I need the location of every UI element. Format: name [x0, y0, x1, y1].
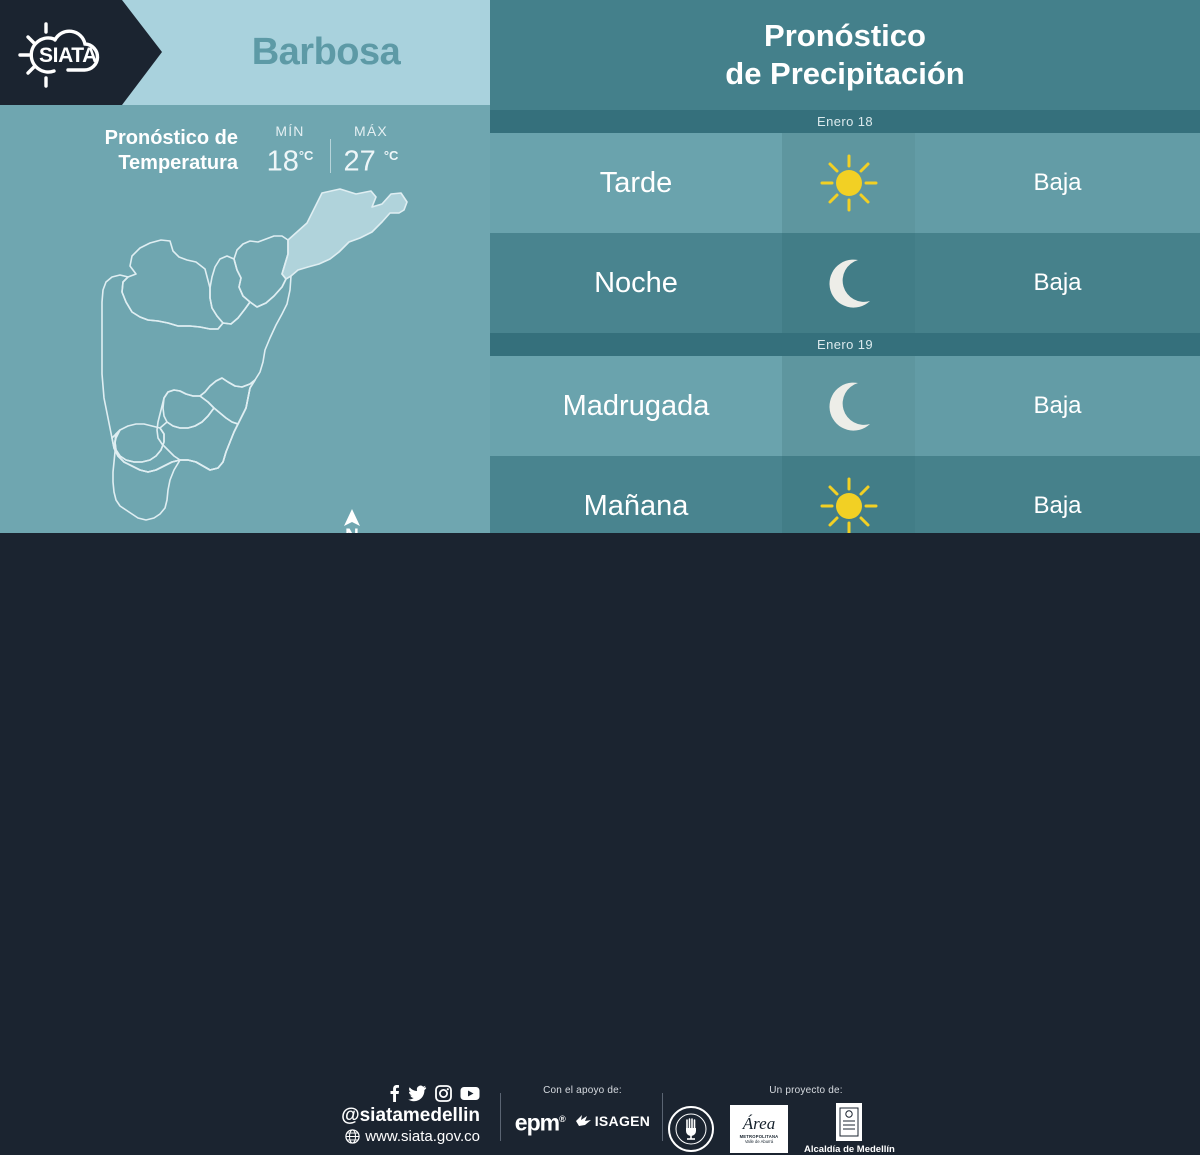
isagen-mark-icon — [575, 1113, 592, 1128]
footer-divider-1 — [500, 1093, 501, 1141]
map-region-south — [113, 430, 180, 520]
facebook-icon[interactable] — [389, 1084, 400, 1102]
aburra-valley-map[interactable]: N — [60, 180, 480, 533]
temperature-values: MÍN 18°C MÁX 27 °C — [256, 122, 405, 178]
youtube-icon[interactable] — [460, 1086, 480, 1101]
map-region-small-1 — [200, 378, 255, 424]
left-panel: SIATA Barbosa Pronóstico de Temperatura … — [0, 0, 490, 533]
support-caption: Con el apoyo de: — [505, 1085, 660, 1096]
area-sub2: Valle de Aburrá — [745, 1139, 773, 1144]
date-band: Enero 19 — [490, 333, 1200, 356]
social-icons — [330, 1084, 480, 1102]
precipitation-title-line2: de Precipitación — [725, 55, 964, 93]
north-arrow-icon — [341, 508, 363, 528]
temperature-title-line2: Temperatura — [60, 151, 238, 176]
map-region-girardota — [234, 236, 288, 307]
map-region-small-4 — [112, 408, 238, 472]
max-value-wrap: 27 °C — [337, 140, 405, 178]
footer-divider-2 — [662, 1093, 663, 1141]
precipitation-level: Baja — [915, 233, 1200, 333]
forecast-table: Enero 18 Tarde Baja — [490, 110, 1200, 556]
max-unit: °C — [384, 148, 399, 163]
date-band: Enero 18 — [490, 110, 1200, 133]
precipitation-level: Baja — [915, 356, 1200, 456]
sun-cloud-icon: SIATA — [12, 18, 116, 88]
seal-inner-icon — [674, 1112, 708, 1146]
area-script: Área — [743, 1115, 775, 1132]
min-value: 18 — [267, 146, 299, 178]
universidad-seal-icon[interactable] — [668, 1106, 714, 1152]
siata-logo-chevron[interactable]: SIATA — [0, 0, 162, 105]
footer: @siatamedellin www.siata.gov.co Con el a… — [0, 533, 1200, 630]
support-block: Con el apoyo de: epm® ISAGEN — [505, 1085, 660, 1134]
alcaldia-crest-icon — [836, 1103, 862, 1141]
weather-icon-cell — [782, 233, 915, 333]
moon-icon — [820, 254, 878, 312]
precipitation-level: Baja — [915, 133, 1200, 233]
min-value-wrap: 18°C — [256, 140, 324, 178]
globe-icon — [345, 1129, 360, 1144]
moon-icon — [820, 377, 878, 435]
min-unit: °C — [299, 148, 314, 163]
table-row[interactable]: Noche Baja — [490, 233, 1200, 333]
epm-logo[interactable]: epm® — [515, 1108, 565, 1134]
map-svg — [60, 180, 480, 533]
period-label: Noche — [490, 233, 782, 333]
sun-icon — [818, 152, 880, 214]
period-label: Tarde — [490, 133, 782, 233]
precipitation-title-line1: Pronóstico — [764, 17, 926, 55]
temperature-title: Pronóstico de Temperatura — [60, 122, 238, 176]
table-row[interactable]: Tarde Baja — [490, 133, 1200, 233]
social-block: @siatamedellin www.siata.gov.co — [330, 1084, 480, 1146]
svg-text:SIATA: SIATA — [39, 44, 97, 67]
alcaldia-logo[interactable]: Alcaldía de Medellín — [804, 1103, 895, 1155]
left-header: SIATA Barbosa — [0, 0, 490, 105]
temperature-block: Pronóstico de Temperatura MÍN 18°C MÁX 2… — [60, 122, 460, 184]
min-temperature: MÍN 18°C — [256, 123, 324, 178]
weather-forecast-card: SIATA Barbosa Pronóstico de Temperatura … — [0, 0, 1200, 630]
social-handle[interactable]: @siatamedellin — [330, 1104, 480, 1127]
max-label: MÁX — [337, 123, 405, 139]
map-region-west-strip — [102, 275, 291, 472]
city-title: Barbosa — [162, 0, 490, 105]
crest-inner-icon — [836, 1103, 862, 1141]
temperature-title-line1: Pronóstico de — [60, 126, 238, 151]
max-value: 27 — [344, 146, 376, 178]
map-region-barbosa — [282, 189, 407, 279]
support-logos: epm® ISAGEN — [505, 1108, 660, 1134]
weather-icon-cell — [782, 356, 915, 456]
project-caption: Un proyecto de: — [668, 1085, 898, 1096]
sun-icon — [818, 475, 880, 537]
website-url: www.siata.gov.co — [365, 1127, 480, 1146]
right-panel: Pronóstico de Precipitación Enero 18 Tar… — [490, 0, 1200, 533]
project-logos: Área METROPOLITANA Valle de Aburrá — [668, 1103, 898, 1155]
max-temperature: MÁX 27 °C — [337, 123, 405, 178]
area-metropolitana-logo[interactable]: Área METROPOLITANA Valle de Aburrá — [730, 1105, 788, 1153]
min-label: MÍN — [256, 123, 324, 139]
precipitation-header: Pronóstico de Precipitación — [490, 0, 1200, 110]
map-region-small-2 — [163, 390, 214, 428]
temperature-divider — [330, 139, 331, 173]
twitter-icon[interactable] — [408, 1084, 427, 1102]
project-block: Un proyecto de: Área METROPOLITANA Valle… — [668, 1085, 898, 1155]
isagen-logo[interactable]: ISAGEN — [575, 1113, 650, 1129]
instagram-icon[interactable] — [435, 1085, 452, 1102]
alcaldia-label: Alcaldía de Medellín — [804, 1144, 895, 1155]
website-row[interactable]: www.siata.gov.co — [330, 1127, 480, 1146]
table-row[interactable]: Madrugada Baja — [490, 356, 1200, 456]
weather-icon-cell — [782, 133, 915, 233]
period-label: Madrugada — [490, 356, 782, 456]
